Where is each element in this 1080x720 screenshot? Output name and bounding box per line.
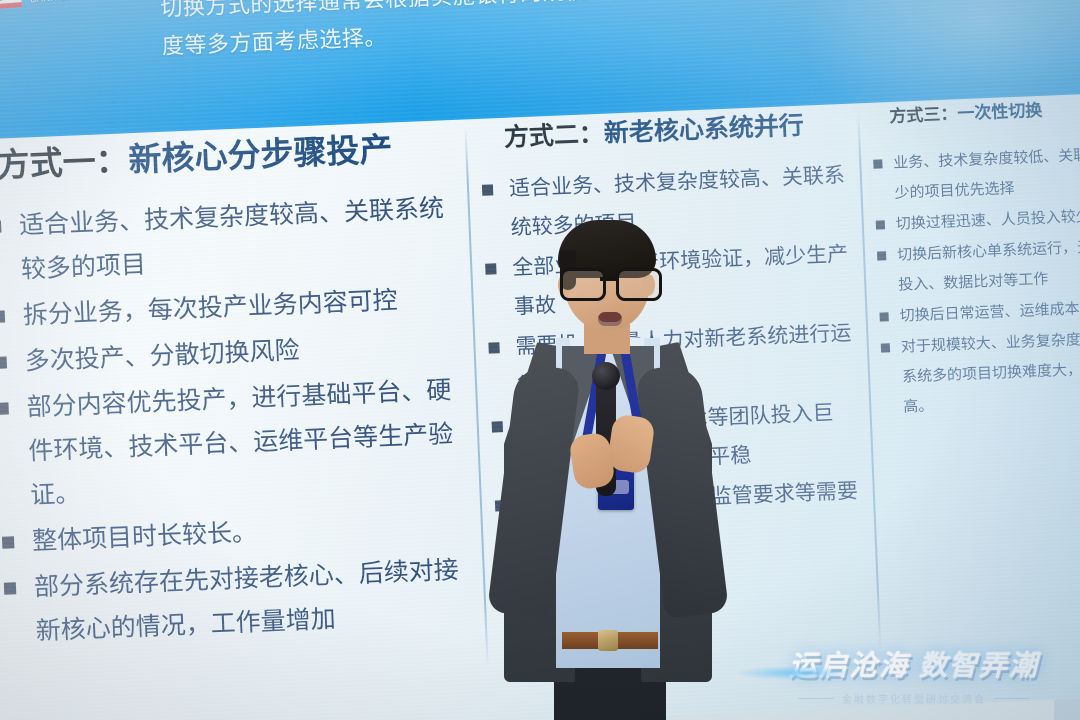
list-item-text: 部分内容优先投产，进行基础平台、硬件环境、技术平台、运维平台等生产验证。 <box>26 376 454 509</box>
list-item: 部分内容优先投产，进行基础平台、硬件环境、技术平台、运维平台等生产验证。 <box>0 368 471 519</box>
presenter-belt-buckle <box>598 630 618 651</box>
bullet-square-icon <box>0 221 1 233</box>
list-item-text: 对于规模较大、业务复杂度高、关联系统多的项目切换难度大，切换风险高。 <box>901 329 1080 416</box>
bullet-square-icon <box>877 251 886 260</box>
glasses-lens-right <box>616 268 662 301</box>
column-2-title-key: 方式二： <box>503 120 604 152</box>
glasses-icon <box>558 268 658 296</box>
list-item-text: 适合业务、技术复杂度较高、关联系统较多的项目 <box>19 194 445 283</box>
microphone-head-icon <box>592 362 620 390</box>
column-1-points: 适合业务、技术复杂度较高、关联系统较多的项目 拆分业务，每次投产业务内容可控 多… <box>0 186 476 655</box>
list-item-text: 切换后日常运营、运维成本较低 <box>899 299 1080 325</box>
list-item: 对于规模较大、业务复杂度高、关联系统多的项目切换难度大，切换风险高。 <box>880 323 1080 424</box>
list-item: 切换后新核心单系统运行，无需二次投入、数据比对等工作 <box>877 231 1080 302</box>
presenter-figure <box>498 220 718 720</box>
list-item-text: 部分系统存在先对接老核心、后续对接新核心的情况，工作量增加 <box>33 556 459 645</box>
bullet-square-icon <box>0 356 7 368</box>
list-item: 部分系统存在先对接老核心、后续对接新核心的情况，工作量增加 <box>3 547 476 654</box>
column-method-three: 方式三：一次性切换 业务、技术复杂度较低、关联系统较少的项目优先选择 切换过程迅… <box>871 92 1080 424</box>
glasses-bridge <box>600 277 616 281</box>
column-3-points: 业务、技术复杂度较低、关联系统较少的项目优先选择 切换过程迅速、人员投入较少 切… <box>873 139 1080 424</box>
list-item-text: 多次投产、分散切换风险 <box>24 336 300 375</box>
bullet-square-icon <box>873 159 882 168</box>
glasses-lens-left <box>560 268 606 301</box>
bullet-square-icon <box>876 220 885 229</box>
column-1-title-key: 方式一： <box>0 141 129 183</box>
column-2-title-value: 新老核心系统并行 <box>603 112 804 148</box>
bank-logo-text: 沧州银行 BANK OF CANGZHOU <box>28 0 132 4</box>
column-3-title-key: 方式三： <box>889 104 958 126</box>
bullet-square-icon <box>881 343 890 352</box>
bullet-square-icon <box>2 536 14 548</box>
list-item-text: 切换后新核心单系统运行，无需二次投入、数据比对等工作 <box>897 237 1080 294</box>
column-1-title-value: 新核心分步骤投产 <box>128 130 393 178</box>
bullet-square-icon <box>485 263 496 274</box>
list-item-text: 切换过程迅速、人员投入较少 <box>896 208 1080 233</box>
list-item: 适合业务、技术复杂度较高、关联系统较多的项目 <box>0 186 462 293</box>
list-item-text: 业务、技术复杂度较低、关联系统较少的项目优先选择 <box>893 145 1080 202</box>
bullet-square-icon <box>0 402 9 414</box>
list-item: 业务、技术复杂度较低、关联系统较少的项目优先选择 <box>873 139 1080 210</box>
bullet-square-icon <box>0 310 5 322</box>
bank-emblem-icon <box>0 0 23 12</box>
bullet-square-icon <box>4 582 16 594</box>
column-3-title-value: 一次性切换 <box>957 101 1043 123</box>
presenter-mouth <box>598 312 622 326</box>
bullet-square-icon <box>482 184 493 195</box>
bank-name-en: BANK OF CANGZHOU <box>30 0 131 4</box>
column-method-one: 方式一：新核心分步骤投产 适合业务、技术复杂度较高、关联系统较多的项目 拆分业务… <box>0 120 476 657</box>
list-item-text: 拆分业务，每次投产业务内容可控 <box>22 286 398 329</box>
list-item-text: 整体项目时长较长。 <box>32 518 258 555</box>
screenshot-stage: 核心环境的切换方式 目前主流的切换方式为三种：新老核心系统并行使用、新核心分步骤… <box>0 0 1080 720</box>
bullet-square-icon <box>879 312 888 321</box>
